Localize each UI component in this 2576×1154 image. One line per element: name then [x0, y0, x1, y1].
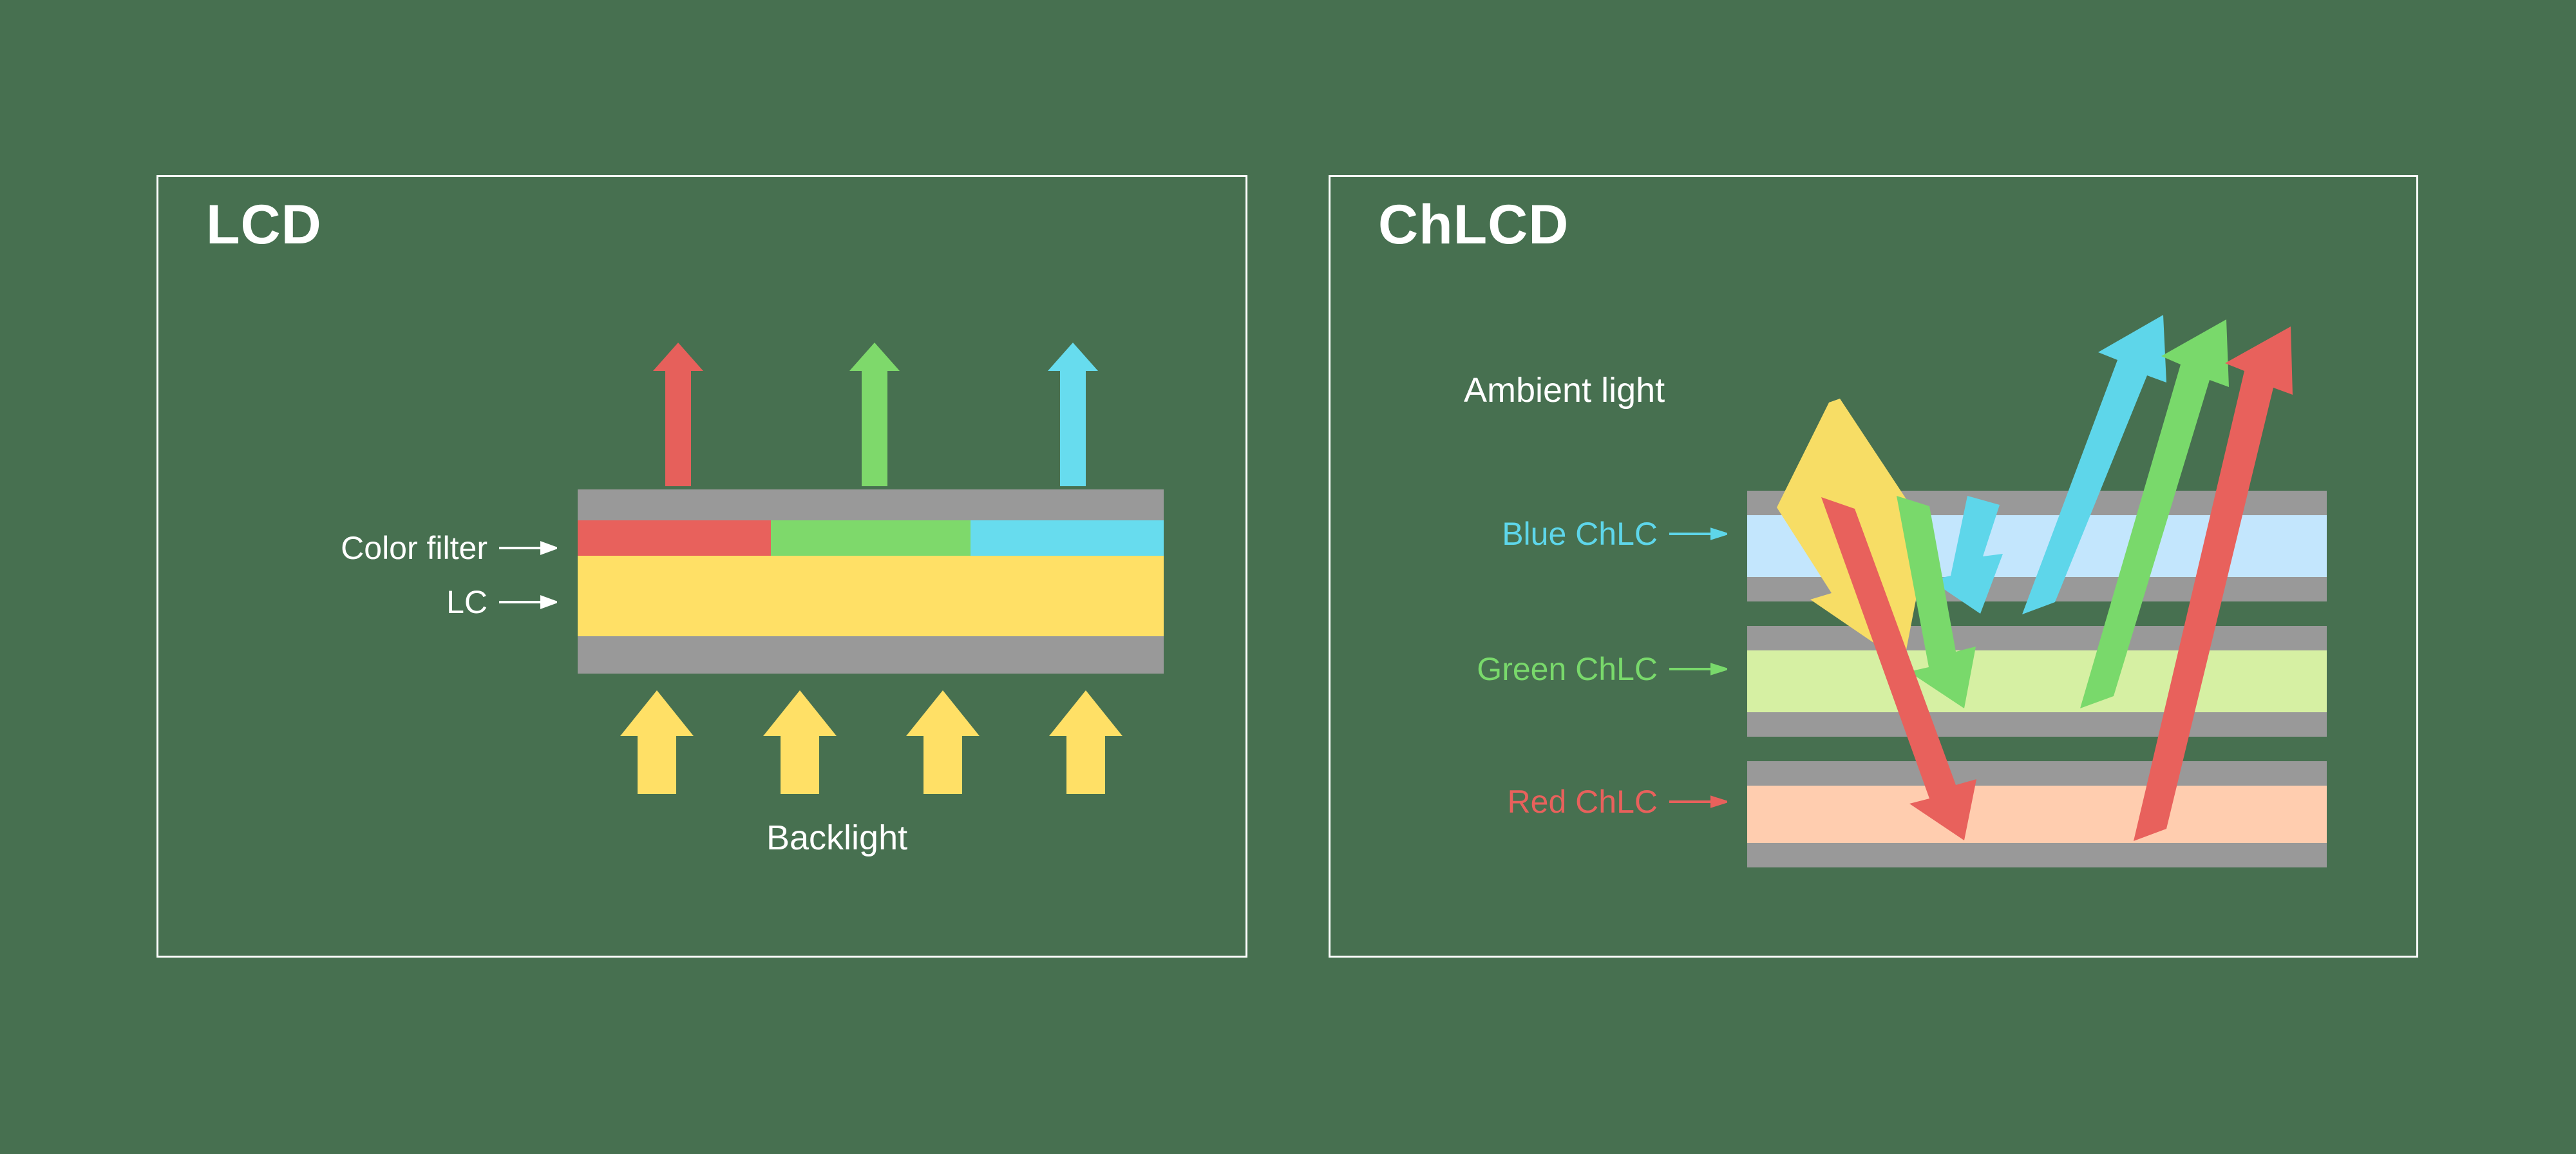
- diagram-canvas: LCD Color filter LC Backlight ChLCD: [0, 0, 2576, 1154]
- panel-title-lcd: LCD: [206, 193, 322, 257]
- label-backlight: Backlight: [766, 818, 907, 858]
- lcd-color-filter-layer: [578, 520, 1164, 556]
- chlcd-layer-stack: [1747, 491, 2327, 867]
- label-green-chlc-text: Green ChLC: [1477, 650, 1658, 688]
- blue-chlc-medium: [1747, 515, 2327, 577]
- green-cell-top-electrode: [1747, 626, 2327, 650]
- label-red-chlc-text: Red ChLC: [1508, 783, 1658, 820]
- arrow-right-icon: [1669, 659, 1727, 679]
- lcd-layer-stack: [578, 489, 1164, 674]
- color-filter-blue: [971, 520, 1164, 556]
- label-red-chlc: Red ChLC: [1508, 783, 1727, 820]
- green-chlc-medium: [1747, 650, 2327, 712]
- color-filter-red: [578, 520, 771, 556]
- arrow-right-icon: [499, 592, 557, 612]
- arrow-right-icon: [499, 538, 557, 558]
- red-cell-top-electrode: [1747, 761, 2327, 786]
- arrow-right-icon: [1669, 524, 1727, 544]
- blue-cell-bottom-electrode: [1747, 577, 2327, 601]
- arrow-right-icon: [1669, 792, 1727, 811]
- red-cell-bottom-electrode: [1747, 843, 2327, 867]
- panel-title-chlcd: ChLCD: [1378, 193, 1569, 257]
- blue-cell-top-electrode: [1747, 491, 2327, 515]
- label-color-filter-text: Color filter: [341, 529, 488, 567]
- lcd-top-electrode: [578, 489, 1164, 520]
- lcd-bottom-electrode: [578, 636, 1164, 674]
- chlcd-green-cell: [1747, 626, 2327, 737]
- label-blue-chlc-text: Blue ChLC: [1502, 515, 1658, 553]
- chlcd-red-cell: [1747, 761, 2327, 867]
- red-chlc-medium: [1747, 786, 2327, 843]
- color-filter-green: [771, 520, 970, 556]
- lcd-liquid-crystal-layer: [578, 556, 1164, 636]
- label-ambient-light: Ambient light: [1464, 370, 1665, 410]
- label-lc-text: LC: [446, 583, 488, 621]
- label-color-filter: Color filter: [341, 529, 557, 567]
- label-lc: LC: [446, 583, 557, 621]
- green-cell-bottom-electrode: [1747, 712, 2327, 737]
- chlcd-blue-cell: [1747, 491, 2327, 601]
- label-blue-chlc: Blue ChLC: [1502, 515, 1727, 553]
- label-green-chlc: Green ChLC: [1477, 650, 1727, 688]
